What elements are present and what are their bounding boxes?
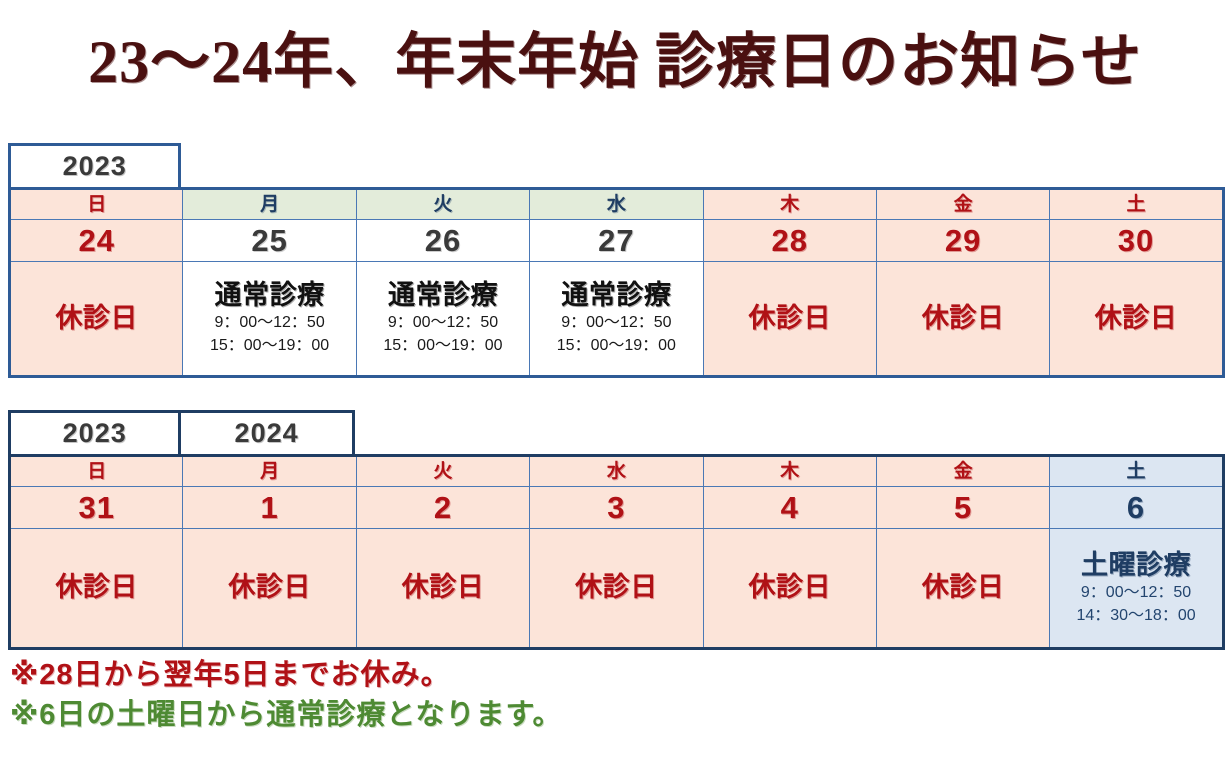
schedule-cell-content: 休診日 (1050, 262, 1221, 375)
schedule-cell: 休診日 (10, 529, 183, 649)
day-number-cell: 1 (183, 487, 356, 529)
footer-note: ※6日の土曜日から通常診療となります。 (10, 695, 1210, 735)
calendar-block-2023: 2023 日月火水木金土24252627282930休診日通常診療9：00〜12… (8, 143, 1222, 378)
schedule-cell-content: 通常診療9：00〜12：5015：00〜19：00 (530, 262, 702, 375)
year-label: 2023 (8, 410, 181, 454)
status-closed: 休診日 (749, 303, 832, 334)
status-closed: 休診日 (749, 572, 832, 603)
hours-line: 14：30〜18：00 (1076, 605, 1195, 627)
day-number-cell: 29 (876, 220, 1049, 262)
footer-notes: ※28日から翌年5日までお休み。※6日の土曜日から通常診療となります。 (10, 655, 1210, 735)
day-number-cell: 27 (530, 220, 703, 262)
year-label: 2024 (181, 410, 354, 454)
weekday-header-cell: 土 (1050, 456, 1223, 487)
schedule-cell-content: 休診日 (704, 529, 876, 647)
schedule-cell: 通常診療9：00〜12：5015：00〜19：00 (183, 262, 356, 377)
calendar-block-2023-2024: 20232024 日月火水木金土31123456休診日休診日休診日休診日休診日休… (8, 410, 1222, 650)
schedule-cell-content: 休診日 (183, 529, 355, 647)
schedule-cell-content: 休診日 (11, 262, 182, 375)
day-number-cell: 2 (356, 487, 529, 529)
hours-line: 9：00〜12：50 (1081, 582, 1191, 604)
schedule-cell: 通常診療9：00〜12：5015：00〜19：00 (530, 262, 703, 377)
hours-line: 9：00〜12：50 (561, 312, 671, 334)
schedule-cell: 休診日 (876, 262, 1049, 377)
schedule-cell: 休診日 (703, 262, 876, 377)
weekday-header-cell: 土 (1050, 189, 1223, 220)
weekday-header-row: 日月火水木金土 (10, 189, 1224, 220)
schedule-cell: 通常診療9：00〜12：5015：00〜19：00 (356, 262, 529, 377)
schedule-cell: 休診日 (530, 529, 703, 649)
schedule-cell: 休診日 (703, 529, 876, 649)
day-number-cell: 5 (876, 487, 1049, 529)
schedule-row: 休診日休診日休診日休診日休診日休診日土曜診療9：00〜12：5014：30〜18… (10, 529, 1224, 649)
schedule-cell-content: 休診日 (11, 529, 182, 647)
schedule-cell-content: 休診日 (357, 529, 529, 647)
hours-line: 9：00〜12：50 (388, 312, 498, 334)
calendar-table-2023: 日月火水木金土24252627282930休診日通常診療9：00〜12：5015… (8, 187, 1225, 378)
page-title: 23〜24年、年末年始 診療日のお知らせ (0, 0, 1230, 92)
calendar-table-2023-2024: 日月火水木金土31123456休診日休診日休診日休診日休診日休診日土曜診療9：0… (8, 454, 1225, 650)
schedule-cell-content: 土曜診療9：00〜12：5014：30〜18：00 (1050, 529, 1221, 647)
day-number-cell: 6 (1050, 487, 1223, 529)
year-tab-spacer (355, 410, 1222, 454)
status-open: 通常診療 (388, 280, 498, 311)
weekday-header-cell: 金 (876, 456, 1049, 487)
schedule-cell: 休診日 (356, 529, 529, 649)
day-number-row: 31123456 (10, 487, 1224, 529)
hours-line: 15：00〜19：00 (383, 335, 502, 357)
year-label: 2023 (8, 143, 181, 187)
status-closed: 休診日 (228, 572, 311, 603)
weekday-header-cell: 月 (183, 189, 356, 220)
weekday-header-cell: 水 (530, 189, 703, 220)
status-closed: 休診日 (55, 572, 138, 603)
hours-line: 15：00〜19：00 (557, 335, 676, 357)
schedule-cell: 休診日 (10, 262, 183, 377)
status-closed: 休診日 (1095, 303, 1178, 334)
weekday-header-cell: 火 (356, 456, 529, 487)
status-closed: 休診日 (402, 572, 485, 603)
status-closed: 休診日 (922, 572, 1005, 603)
schedule-cell-content: 休診日 (530, 529, 702, 647)
day-number-cell: 31 (10, 487, 183, 529)
schedule-cell: 土曜診療9：00〜12：5014：30〜18：00 (1050, 529, 1223, 649)
status-open: 土曜診療 (1081, 550, 1191, 581)
schedule-cell-content: 休診日 (877, 262, 1049, 375)
weekday-header-cell: 木 (703, 189, 876, 220)
day-number-cell: 30 (1050, 220, 1223, 262)
weekday-header-cell: 火 (356, 189, 529, 220)
status-open: 通常診療 (561, 280, 671, 311)
hours-line: 9：00〜12：50 (214, 312, 324, 334)
year-tab-row: 2023 (8, 143, 1222, 187)
day-number-cell: 25 (183, 220, 356, 262)
day-number-cell: 26 (356, 220, 529, 262)
weekday-header-cell: 日 (10, 189, 183, 220)
weekday-header-cell: 日 (10, 456, 183, 487)
day-number-row: 24252627282930 (10, 220, 1224, 262)
schedule-cell: 休診日 (876, 529, 1049, 649)
schedule-cell: 休診日 (1050, 262, 1223, 377)
day-number-cell: 4 (703, 487, 876, 529)
day-number-cell: 28 (703, 220, 876, 262)
day-number-cell: 3 (530, 487, 703, 529)
status-closed: 休診日 (575, 572, 658, 603)
weekday-header-cell: 月 (183, 456, 356, 487)
year-tab-row: 20232024 (8, 410, 1222, 454)
hours-line: 15：00〜19：00 (210, 335, 329, 357)
schedule-row: 休診日通常診療9：00〜12：5015：00〜19：00通常診療9：00〜12：… (10, 262, 1224, 377)
schedule-cell-content: 通常診療9：00〜12：5015：00〜19：00 (183, 262, 355, 375)
status-open: 通常診療 (215, 280, 325, 311)
footer-note: ※28日から翌年5日までお休み。 (10, 655, 1210, 695)
weekday-header-cell: 木 (703, 456, 876, 487)
weekday-header-row: 日月火水木金土 (10, 456, 1224, 487)
schedule-cell-content: 休診日 (877, 529, 1049, 647)
status-closed: 休診日 (55, 303, 138, 334)
day-number-cell: 24 (10, 220, 183, 262)
year-tab-spacer (181, 143, 1222, 187)
schedule-cell-content: 通常診療9：00〜12：5015：00〜19：00 (357, 262, 529, 375)
schedule-cell-content: 休診日 (704, 262, 876, 375)
schedule-cell: 休診日 (183, 529, 356, 649)
weekday-header-cell: 金 (876, 189, 1049, 220)
weekday-header-cell: 水 (530, 456, 703, 487)
status-closed: 休診日 (922, 303, 1005, 334)
